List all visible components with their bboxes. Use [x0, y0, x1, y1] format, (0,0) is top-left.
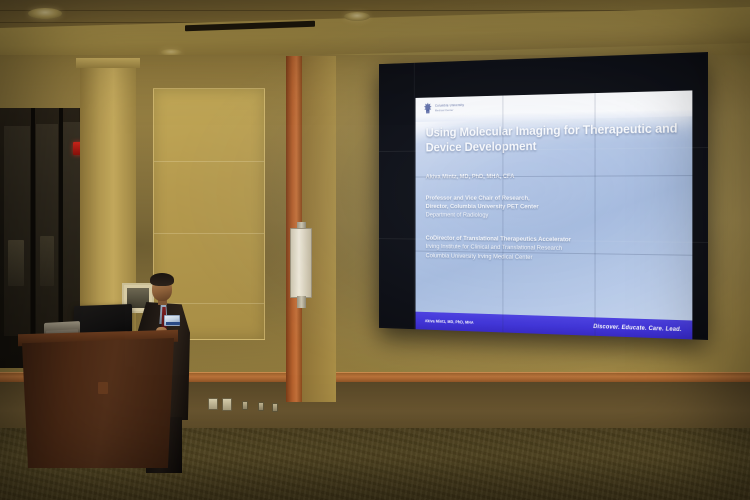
- footer-tagline: Discover. Educate. Care. Lead.: [593, 324, 681, 333]
- logo-text-line-1: Columbia University: [435, 104, 464, 108]
- video-wall-display[interactable]: Columbia University Medical Center Using…: [379, 52, 708, 340]
- podium-emblem: [98, 382, 108, 394]
- recessed-ceiling-light: [344, 12, 370, 21]
- slide-affiliation-block-1: Professor and Vice Chair of Research, Di…: [426, 194, 685, 222]
- wall-electrical-box: [290, 228, 312, 298]
- electrical-conduit: [297, 296, 306, 308]
- institution-logo: Columbia University Medical Center: [423, 101, 464, 114]
- affiliation-line: Department of Radiology: [426, 211, 685, 221]
- affiliation-line: Professor and Vice Chair of Research,: [426, 194, 685, 203]
- presenter-hair: [150, 273, 174, 286]
- slide-presenter-name: Akiva Mintz, MD, PhD, MHA, CFA: [426, 172, 685, 180]
- slide-content: Using Molecular Imaging for Therapeutic …: [426, 120, 685, 264]
- pillar-cap: [76, 58, 140, 68]
- wall-outlet[interactable]: [208, 398, 218, 410]
- presenter-name-badge: [164, 315, 180, 326]
- podium: [22, 338, 174, 468]
- footer-presenter-name: Akiva Mintz, MD, PhD, MHA: [425, 318, 474, 324]
- slide-title: Using Molecular Imaging for Therapeutic …: [426, 120, 685, 155]
- wall-outlet[interactable]: [272, 403, 278, 412]
- recessed-ceiling-light: [28, 8, 62, 19]
- columbia-crown-icon: [423, 102, 432, 114]
- wall-outlet[interactable]: [258, 402, 264, 411]
- presentation-slide: Columbia University Medical Center Using…: [416, 90, 693, 339]
- slide-affiliation-block-2: CoDirector of Translational Therapeutics…: [426, 234, 685, 265]
- screenshot-stage: Columbia University Medical Center Using…: [0, 0, 750, 500]
- wall-outlet[interactable]: [242, 401, 248, 410]
- logo-text-line-2: Medical Center: [435, 108, 464, 111]
- wall-light-switch[interactable]: [222, 398, 232, 411]
